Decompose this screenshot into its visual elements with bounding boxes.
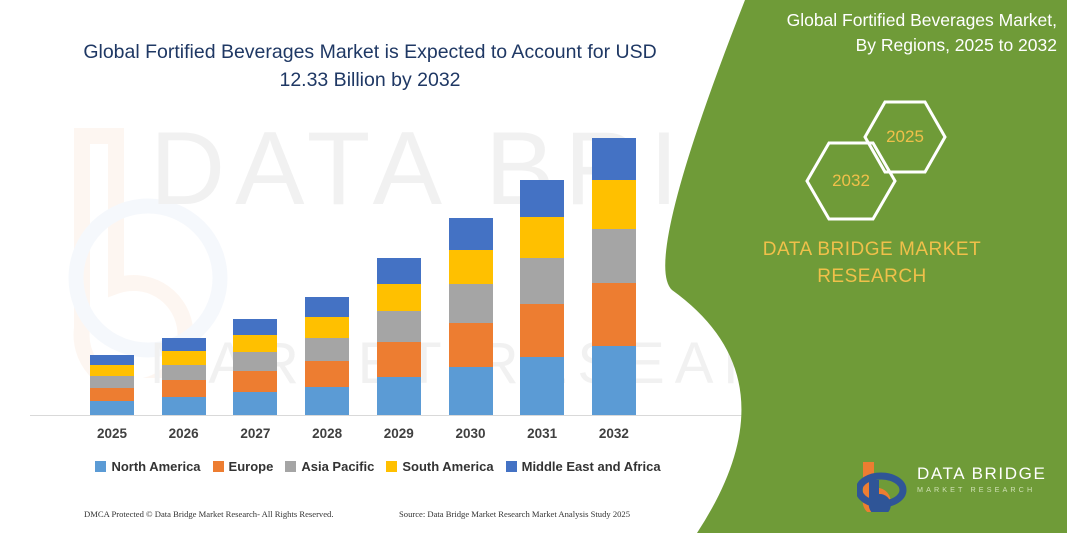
chart-bar-segment[interactable]	[449, 367, 493, 415]
chart-bar-segment[interactable]	[377, 258, 421, 284]
hexagon-end-year-label: 2032	[832, 171, 870, 191]
chart-bar[interactable]	[162, 338, 206, 415]
legend-label: Asia Pacific	[301, 459, 374, 474]
chart-bar-segment[interactable]	[592, 180, 636, 229]
x-axis-tick-label: 2025	[82, 426, 142, 441]
hexagon-start-year-label: 2025	[886, 127, 924, 147]
chart-bar[interactable]	[592, 138, 636, 415]
chart-bar-segment[interactable]	[377, 284, 421, 311]
chart-bar-segment[interactable]	[377, 377, 421, 415]
x-axis-tick-label: 2028	[297, 426, 357, 441]
legend-swatch	[213, 461, 224, 472]
chart-x-axis: 20252026202720282029203020312032	[78, 426, 678, 448]
chart-bar[interactable]	[90, 355, 134, 415]
legend-swatch	[285, 461, 296, 472]
x-axis-tick-label: 2031	[512, 426, 572, 441]
chart-bar-segment[interactable]	[305, 361, 349, 387]
chart-bar-segment[interactable]	[449, 250, 493, 284]
hexagon-badge-start-year: 2025	[861, 98, 949, 176]
x-axis-tick-label: 2026	[154, 426, 214, 441]
chart-bar-segment[interactable]	[233, 335, 277, 352]
chart-bar-segment[interactable]	[305, 387, 349, 415]
x-axis-tick-label: 2029	[369, 426, 429, 441]
legend-swatch	[386, 461, 397, 472]
chart-bar[interactable]	[449, 218, 493, 415]
chart-bar-segment[interactable]	[520, 217, 564, 258]
legend-label: Europe	[229, 459, 274, 474]
chart-bar-segment[interactable]	[305, 297, 349, 317]
legend-item[interactable]: Middle East and Africa	[506, 459, 661, 474]
legend-label: North America	[111, 459, 200, 474]
chart-bar-segment[interactable]	[233, 352, 277, 371]
legend-label: Middle East and Africa	[522, 459, 661, 474]
brand-name: DATA BRIDGE MARKET RESEARCH	[727, 236, 1017, 290]
chart-bar-segment[interactable]	[233, 371, 277, 392]
chart-bar-segment[interactable]	[90, 365, 134, 376]
panel-title: Global Fortified Beverages Market, By Re…	[762, 8, 1057, 58]
legend-item[interactable]: Asia Pacific	[285, 459, 374, 474]
chart-bar-segment[interactable]	[377, 342, 421, 377]
footer-source: Source: Data Bridge Market Research Mark…	[399, 509, 630, 519]
footer-copyright: DMCA Protected © Data Bridge Market Rese…	[84, 509, 334, 519]
chart-bar-segment[interactable]	[520, 304, 564, 357]
chart-plot-area	[78, 0, 678, 415]
legend-swatch	[95, 461, 106, 472]
legend-item[interactable]: North America	[95, 459, 200, 474]
chart-bar-segment[interactable]	[449, 284, 493, 323]
chart-bar[interactable]	[233, 319, 277, 415]
x-axis-tick-label: 2030	[441, 426, 501, 441]
logo-company-tagline: MARKET RESEARCH	[917, 484, 1046, 495]
chart-bar-segment[interactable]	[305, 338, 349, 361]
x-axis-tick-label: 2032	[584, 426, 644, 441]
chart-bar-segment[interactable]	[162, 338, 206, 351]
chart-bar-segment[interactable]	[162, 365, 206, 380]
chart-bar-segment[interactable]	[592, 283, 636, 346]
chart-bar-segment[interactable]	[592, 229, 636, 283]
x-axis-tick-label: 2027	[225, 426, 285, 441]
chart-bar-segment[interactable]	[305, 317, 349, 338]
data-bridge-logo-icon	[857, 460, 911, 512]
chart-legend: North AmericaEuropeAsia PacificSouth Ame…	[78, 455, 678, 477]
chart-bar-segment[interactable]	[233, 392, 277, 415]
chart-bar-segment[interactable]	[592, 138, 636, 180]
chart-bar-segment[interactable]	[90, 355, 134, 365]
chart-bar-segment[interactable]	[592, 346, 636, 415]
legend-label: South America	[402, 459, 493, 474]
chart-bar-segment[interactable]	[162, 351, 206, 365]
chart-bar[interactable]	[377, 258, 421, 415]
chart-bar[interactable]	[520, 180, 564, 415]
chart-bar-segment[interactable]	[162, 380, 206, 397]
chart-bar-segment[interactable]	[449, 218, 493, 250]
brand-panel: Global Fortified Beverages Market, By Re…	[647, 0, 1067, 533]
logo-company-name: DATA BRIDGE	[917, 464, 1046, 484]
legend-item[interactable]: Europe	[213, 459, 274, 474]
chart-bar-segment[interactable]	[449, 323, 493, 367]
chart-bar-segment[interactable]	[90, 388, 134, 401]
infographic-root: DATA BRIDGE MARKET RESEARCH Global Forti…	[0, 0, 1067, 533]
legend-item[interactable]: South America	[386, 459, 493, 474]
footer: DMCA Protected © Data Bridge Market Rese…	[0, 505, 740, 531]
chart-bar-segment[interactable]	[377, 311, 421, 342]
company-logo: DATA BRIDGE MARKET RESEARCH	[857, 458, 1057, 516]
chart-bar[interactable]	[305, 297, 349, 415]
chart-bar-segment[interactable]	[90, 376, 134, 388]
chart-bar-segment[interactable]	[520, 258, 564, 304]
chart-bar-segment[interactable]	[233, 319, 277, 335]
chart-bar-segment[interactable]	[520, 180, 564, 217]
chart-bar-segment[interactable]	[162, 397, 206, 415]
legend-swatch	[506, 461, 517, 472]
chart-bar-segment[interactable]	[520, 357, 564, 415]
chart-bar-segment[interactable]	[90, 401, 134, 415]
